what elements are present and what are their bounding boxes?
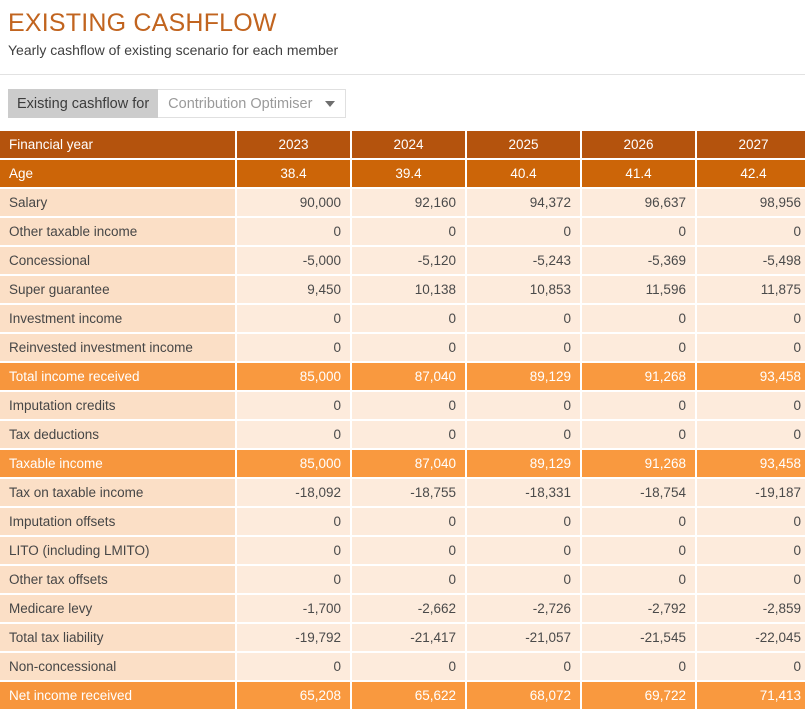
row-value-cell: -18,754 xyxy=(582,479,697,508)
row-value-cell: -5,498 xyxy=(697,247,805,276)
row-value-cell: 0 xyxy=(697,334,805,363)
row-value-cell: -5,000 xyxy=(237,247,352,276)
row-value-cell: 0 xyxy=(352,537,467,566)
age-cell: 40.4 xyxy=(467,160,582,189)
financial-year-cell: 2025 xyxy=(467,131,582,160)
row-value-cell: 0 xyxy=(237,334,352,363)
table-row: Imputation credits00000 xyxy=(0,392,805,421)
row-value-cell: -5,120 xyxy=(352,247,467,276)
row-value-cell: 10,853 xyxy=(467,276,582,305)
financial-year-cell: 2026 xyxy=(582,131,697,160)
header-divider xyxy=(0,74,805,75)
row-value-cell: 0 xyxy=(352,566,467,595)
row-value-cell: 68,072 xyxy=(467,682,582,711)
row-value-cell: 85,000 xyxy=(237,450,352,479)
row-label: Net income received xyxy=(0,682,237,711)
row-label: Other taxable income xyxy=(0,218,237,247)
row-value-cell: 0 xyxy=(582,392,697,421)
row-value-cell: 69,722 xyxy=(582,682,697,711)
row-value-cell: 89,129 xyxy=(467,450,582,479)
row-value-cell: 0 xyxy=(467,537,582,566)
row-value-cell: 11,596 xyxy=(582,276,697,305)
row-value-cell: 0 xyxy=(697,653,805,682)
row-value-cell: 96,637 xyxy=(582,189,697,218)
row-value-cell: 0 xyxy=(582,334,697,363)
table-row: Taxable income85,00087,04089,12991,26893… xyxy=(0,450,805,479)
row-value-cell: 0 xyxy=(352,305,467,334)
page-title: EXISTING CASHFLOW xyxy=(8,8,805,38)
age-cell: 42.4 xyxy=(697,160,805,189)
row-value-cell: 0 xyxy=(697,218,805,247)
row-value-cell: 0 xyxy=(582,508,697,537)
row-value-cell: 93,458 xyxy=(697,363,805,392)
row-label: Other tax offsets xyxy=(0,566,237,595)
row-value-cell: 0 xyxy=(467,508,582,537)
row-value-cell: 0 xyxy=(697,392,805,421)
row-value-cell: 0 xyxy=(352,392,467,421)
row-label: Salary xyxy=(0,189,237,218)
row-value-cell: -2,662 xyxy=(352,595,467,624)
row-value-cell: 0 xyxy=(467,653,582,682)
row-value-cell: -21,417 xyxy=(352,624,467,653)
table-row: Other taxable income00000 xyxy=(0,218,805,247)
financial-year-row: Financial year20232024202520262027 xyxy=(0,131,805,160)
row-value-cell: 0 xyxy=(352,218,467,247)
row-label: Investment income xyxy=(0,305,237,334)
filter-bar: Existing cashflow for Contribution Optim… xyxy=(8,89,805,118)
table-row: Reinvested investment income00000 xyxy=(0,334,805,363)
row-value-cell: -18,331 xyxy=(467,479,582,508)
row-value-cell: 0 xyxy=(697,305,805,334)
row-label: Imputation credits xyxy=(0,392,237,421)
row-label: Reinvested investment income xyxy=(0,334,237,363)
row-label: Total income received xyxy=(0,363,237,392)
age-row: Age38.439.440.441.442.4 xyxy=(0,160,805,189)
table-row: Salary90,00092,16094,37296,63798,956 xyxy=(0,189,805,218)
row-value-cell: 0 xyxy=(467,218,582,247)
row-value-cell: 0 xyxy=(237,305,352,334)
table-row: Other tax offsets00000 xyxy=(0,566,805,595)
row-value-cell: 0 xyxy=(237,421,352,450)
row-value-cell: 9,450 xyxy=(237,276,352,305)
row-value-cell: -2,859 xyxy=(697,595,805,624)
page-subtitle: Yearly cashflow of existing scenario for… xyxy=(8,40,805,60)
row-label: Taxable income xyxy=(0,450,237,479)
row-value-cell: 0 xyxy=(237,218,352,247)
row-label: Tax deductions xyxy=(0,421,237,450)
row-value-cell: -18,092 xyxy=(237,479,352,508)
table-row: Tax on taxable income-18,092-18,755-18,3… xyxy=(0,479,805,508)
row-value-cell: 90,000 xyxy=(237,189,352,218)
row-label: Medicare levy xyxy=(0,595,237,624)
chevron-down-icon xyxy=(325,101,335,107)
table-row: Non-concessional00000 xyxy=(0,653,805,682)
age-cell: 39.4 xyxy=(352,160,467,189)
row-label: Tax on taxable income xyxy=(0,479,237,508)
row-value-cell: 0 xyxy=(582,653,697,682)
table-row: Medicare levy-1,700-2,662-2,726-2,792-2,… xyxy=(0,595,805,624)
row-value-cell: 0 xyxy=(697,537,805,566)
row-value-cell: 71,413 xyxy=(697,682,805,711)
row-value-cell: 89,129 xyxy=(467,363,582,392)
row-value-cell: 0 xyxy=(582,218,697,247)
row-value-cell: 87,040 xyxy=(352,450,467,479)
row-value-cell: 0 xyxy=(582,305,697,334)
member-select-value: Contribution Optimiser xyxy=(168,96,312,112)
row-label: Total tax liability xyxy=(0,624,237,653)
row-label: LITO (including LMITO) xyxy=(0,537,237,566)
row-label: Imputation offsets xyxy=(0,508,237,537)
table-row: Investment income00000 xyxy=(0,305,805,334)
row-value-cell: 0 xyxy=(467,392,582,421)
row-value-cell: -2,792 xyxy=(582,595,697,624)
row-value-cell: -1,700 xyxy=(237,595,352,624)
table-row: Tax deductions00000 xyxy=(0,421,805,450)
row-value-cell: 0 xyxy=(467,305,582,334)
row-value-cell: -22,045 xyxy=(697,624,805,653)
age-label: Age xyxy=(0,160,237,189)
row-value-cell: 0 xyxy=(467,421,582,450)
row-value-cell: 0 xyxy=(697,566,805,595)
table-row: Imputation offsets00000 xyxy=(0,508,805,537)
row-value-cell: -2,726 xyxy=(467,595,582,624)
age-cell: 38.4 xyxy=(237,160,352,189)
row-value-cell: 0 xyxy=(467,334,582,363)
row-value-cell: 0 xyxy=(697,508,805,537)
page-header: EXISTING CASHFLOW Yearly cashflow of exi… xyxy=(0,0,805,60)
financial-year-cell: 2023 xyxy=(237,131,352,160)
row-value-cell: 98,956 xyxy=(697,189,805,218)
row-value-cell: 0 xyxy=(352,653,467,682)
row-value-cell: 87,040 xyxy=(352,363,467,392)
row-value-cell: 0 xyxy=(237,537,352,566)
row-value-cell: -21,057 xyxy=(467,624,582,653)
member-select[interactable]: Contribution Optimiser xyxy=(158,89,346,118)
table-row: Concessional-5,000-5,120-5,243-5,369-5,4… xyxy=(0,247,805,276)
row-value-cell: 92,160 xyxy=(352,189,467,218)
row-value-cell: 0 xyxy=(352,421,467,450)
row-value-cell: -18,755 xyxy=(352,479,467,508)
row-value-cell: 65,208 xyxy=(237,682,352,711)
row-label: Super guarantee xyxy=(0,276,237,305)
row-value-cell: 94,372 xyxy=(467,189,582,218)
row-value-cell: -19,187 xyxy=(697,479,805,508)
row-value-cell: -19,792 xyxy=(237,624,352,653)
row-value-cell: 65,622 xyxy=(352,682,467,711)
table-row: LITO (including LMITO)00000 xyxy=(0,537,805,566)
row-value-cell: 0 xyxy=(352,508,467,537)
table-row: Super guarantee9,45010,13810,85311,59611… xyxy=(0,276,805,305)
row-value-cell: 11,875 xyxy=(697,276,805,305)
row-label: Non-concessional xyxy=(0,653,237,682)
filter-label: Existing cashflow for xyxy=(8,89,158,118)
financial-year-label: Financial year xyxy=(0,131,237,160)
row-value-cell: 0 xyxy=(237,653,352,682)
row-value-cell: 0 xyxy=(582,537,697,566)
cashflow-table: Financial year20232024202520262027Age38.… xyxy=(0,131,805,711)
financial-year-cell: 2024 xyxy=(352,131,467,160)
row-value-cell: 10,138 xyxy=(352,276,467,305)
row-value-cell: 0 xyxy=(237,508,352,537)
table-row: Total tax liability-19,792-21,417-21,057… xyxy=(0,624,805,653)
row-value-cell: 0 xyxy=(237,392,352,421)
row-value-cell: -5,369 xyxy=(582,247,697,276)
row-label: Concessional xyxy=(0,247,237,276)
row-value-cell: 0 xyxy=(582,421,697,450)
row-value-cell: 0 xyxy=(352,334,467,363)
age-cell: 41.4 xyxy=(582,160,697,189)
row-value-cell: -5,243 xyxy=(467,247,582,276)
table-row: Net income received65,20865,62268,07269,… xyxy=(0,682,805,711)
row-value-cell: 91,268 xyxy=(582,363,697,392)
row-value-cell: 0 xyxy=(697,421,805,450)
financial-year-cell: 2027 xyxy=(697,131,805,160)
table-row: Total income received85,00087,04089,1299… xyxy=(0,363,805,392)
row-value-cell: 91,268 xyxy=(582,450,697,479)
row-value-cell: 85,000 xyxy=(237,363,352,392)
row-value-cell: 93,458 xyxy=(697,450,805,479)
row-value-cell: 0 xyxy=(467,566,582,595)
row-value-cell: 0 xyxy=(237,566,352,595)
row-value-cell: -21,545 xyxy=(582,624,697,653)
row-value-cell: 0 xyxy=(582,566,697,595)
